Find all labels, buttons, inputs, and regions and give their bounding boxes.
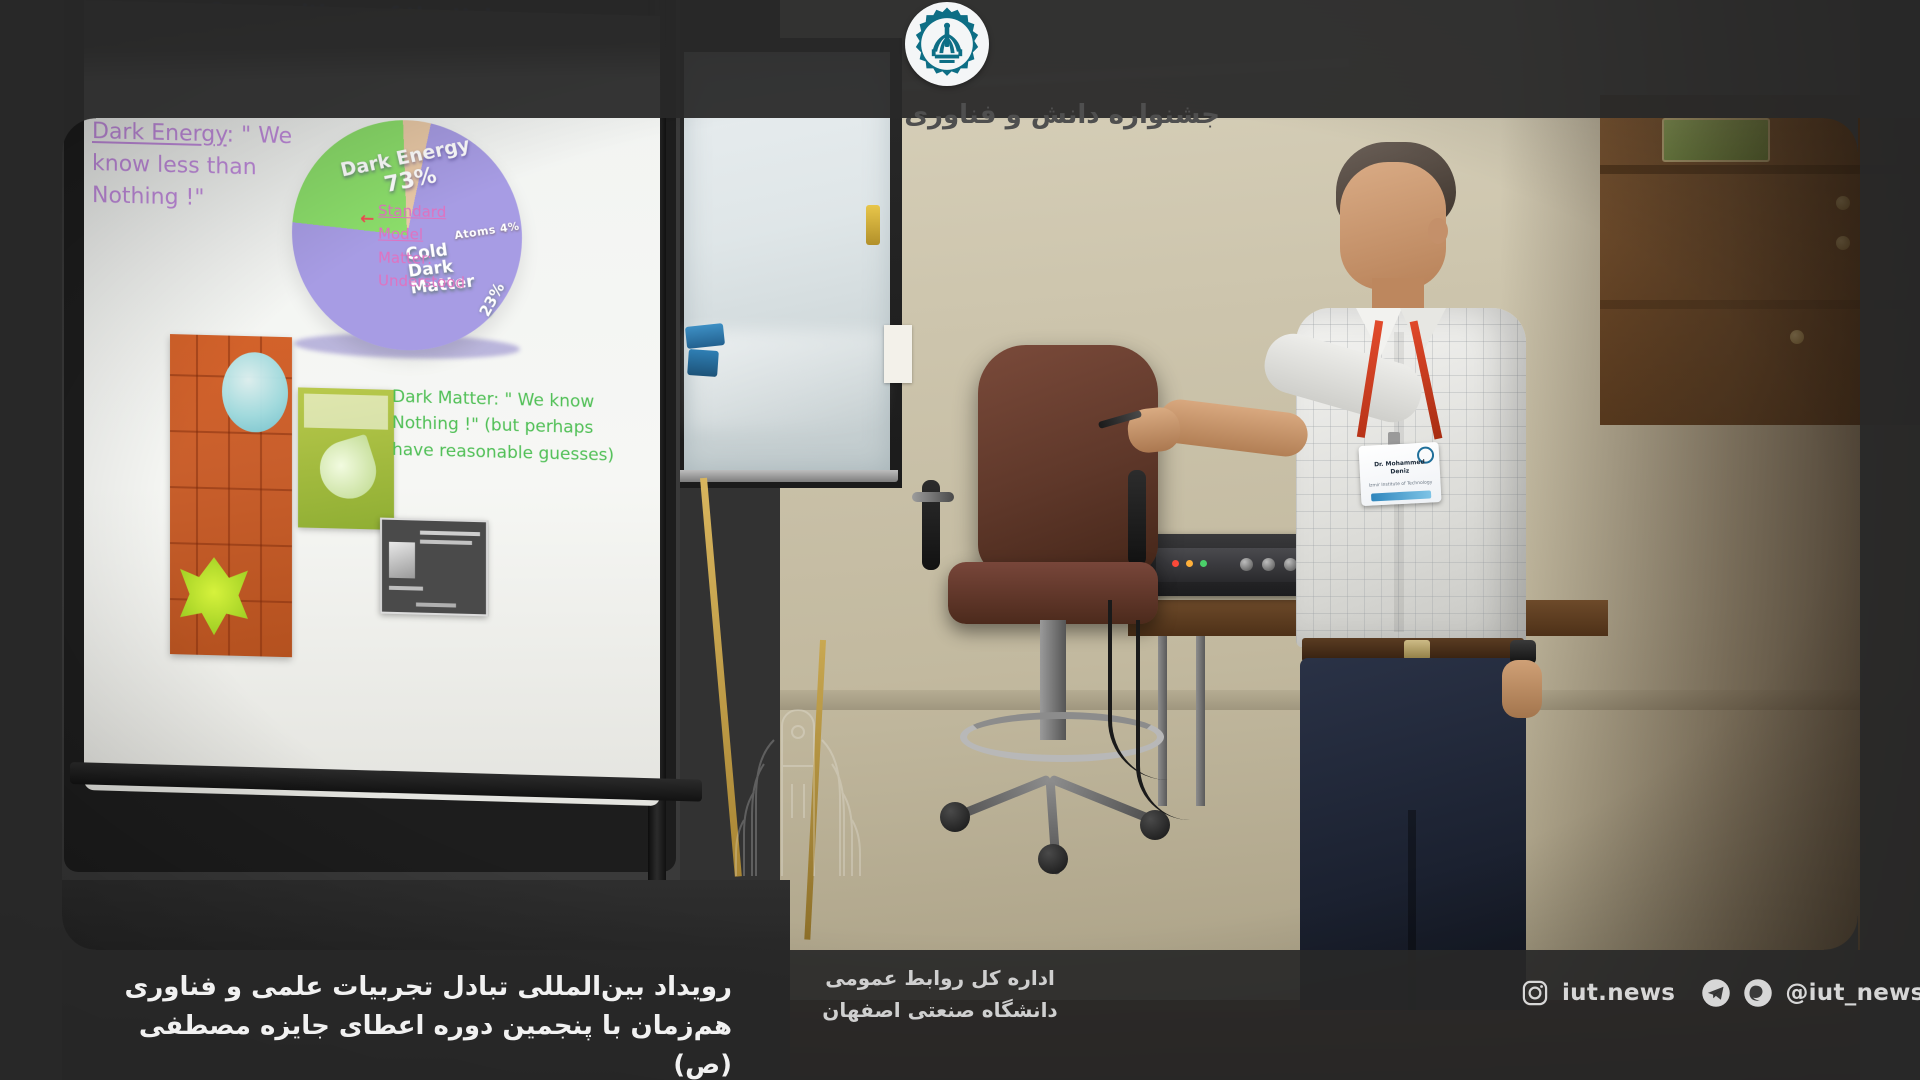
chair-armrest (1128, 470, 1146, 566)
instagram-handle[interactable]: iut.news (1562, 980, 1675, 1006)
dark-matter-l3: have reasonable guesses) (392, 440, 614, 466)
slide-image-portrait-quote (380, 518, 488, 617)
belt-buckle (1404, 640, 1430, 660)
badge-name-line1: Dr. Mohammed (1374, 459, 1425, 469)
press-photo-page: Compositions of the Universe : We only U… (0, 0, 1920, 1080)
dark-matter-l1: Dark Matter: " We know (392, 387, 594, 412)
dark-matter-l2: Nothing !" (but perhaps (392, 413, 593, 438)
frame-band-right (1860, 0, 1920, 1080)
presenter-hand-right (1502, 660, 1542, 718)
slide-image-spacetime-funnel (170, 334, 292, 657)
event-title: جشنواره دانش و فناوری (680, 100, 1220, 130)
yellow-marker (866, 205, 880, 245)
blue-marker (687, 349, 719, 377)
dark-energy-quote-l3: know less than (92, 151, 257, 180)
chair-height-lever[interactable] (912, 492, 954, 502)
quote-line (389, 586, 423, 591)
standard-model-l3: Matter: (378, 248, 432, 267)
chair-caster (940, 802, 970, 832)
whiteboard-marker-tray (676, 470, 898, 482)
chair-caster (1038, 844, 1068, 874)
wall-paper-note (884, 325, 912, 383)
earth-sphere (222, 351, 288, 433)
event-headline-line2: هم‌زمان با پنجمین دوره اعطای جایزه مصطفی… (92, 1007, 732, 1080)
frame-corner (1824, 916, 1858, 950)
portrait-thumbnail (389, 542, 415, 579)
social-links: iut.news @iut_news (1520, 978, 1920, 1008)
book-cover-caption (304, 394, 388, 430)
green-shape (180, 556, 248, 636)
standard-model-l2: Model (378, 225, 423, 244)
quote-attribution-line (416, 602, 456, 607)
organization-credit: اداره کل روابط عمومی دانشگاه صنعتی اصفها… (640, 962, 1240, 1026)
amplifier-led (1172, 560, 1179, 567)
badge-affiliation: Izmir Institute of Technology (1360, 480, 1440, 489)
organization-line2: دانشگاه صنعتی اصفهان (640, 994, 1240, 1026)
telegram-icon[interactable] (1701, 978, 1731, 1008)
badge-color-bar (1371, 490, 1431, 501)
frame-band-left (0, 0, 62, 1080)
isfahan-university-of-technology-seal-icon (905, 2, 989, 86)
standard-model-annotation: Standard Model Matter: Understood (378, 199, 498, 295)
badge-name-line2: Deniz (1390, 468, 1409, 476)
presentation-slide: Dark Energy: " We know less than Nothing… (92, 92, 652, 797)
frame-corner (1824, 118, 1858, 152)
dark-matter-annotation: Dark Matter: " We know Nothing !" (but p… (392, 384, 622, 469)
event-headline: رویداد بین‌المللی تبادل تجربیات علمی و ف… (92, 968, 732, 1080)
quote-line (420, 531, 480, 537)
public-relations-watermark-icon (718, 700, 878, 900)
frame-corner (62, 916, 96, 950)
dark-energy-term: Dark Energy (92, 119, 227, 148)
organization-line1: اداره کل روابط عمومی (640, 962, 1240, 994)
bale-icon[interactable] (1743, 978, 1773, 1008)
photograph: Compositions of the Universe : We only U… (0, 0, 1920, 1080)
standard-model-l4: Understood (378, 271, 465, 291)
presenter: Dr. Mohammed Deniz Izmir Institute of Te… (1190, 120, 1610, 1010)
badge-name: Dr. Mohammed Deniz (1359, 458, 1440, 478)
dark-energy-quote-l4: Nothing !" (92, 183, 204, 211)
frame-corner (62, 118, 96, 152)
slide-image-book-cover (298, 387, 394, 530)
conference-name-badge: Dr. Mohammed Deniz Izmir Institute of Te… (1358, 442, 1441, 506)
presenter-ear (1428, 218, 1448, 244)
leaf-shape (312, 434, 383, 506)
red-arrow-icon: ← (360, 209, 374, 229)
dark-energy-quote-l2: : " We (227, 123, 293, 150)
event-headline-line1: رویداد بین‌المللی تبادل تجربیات علمی و ف… (92, 968, 732, 1007)
quote-line (420, 540, 472, 545)
blue-eraser (685, 323, 725, 349)
standard-model-l1: Standard (378, 201, 446, 221)
audio-cable (1136, 620, 1190, 820)
instagram-icon[interactable] (1520, 978, 1550, 1008)
telegram-bale-handle[interactable]: @iut_news (1785, 980, 1920, 1006)
